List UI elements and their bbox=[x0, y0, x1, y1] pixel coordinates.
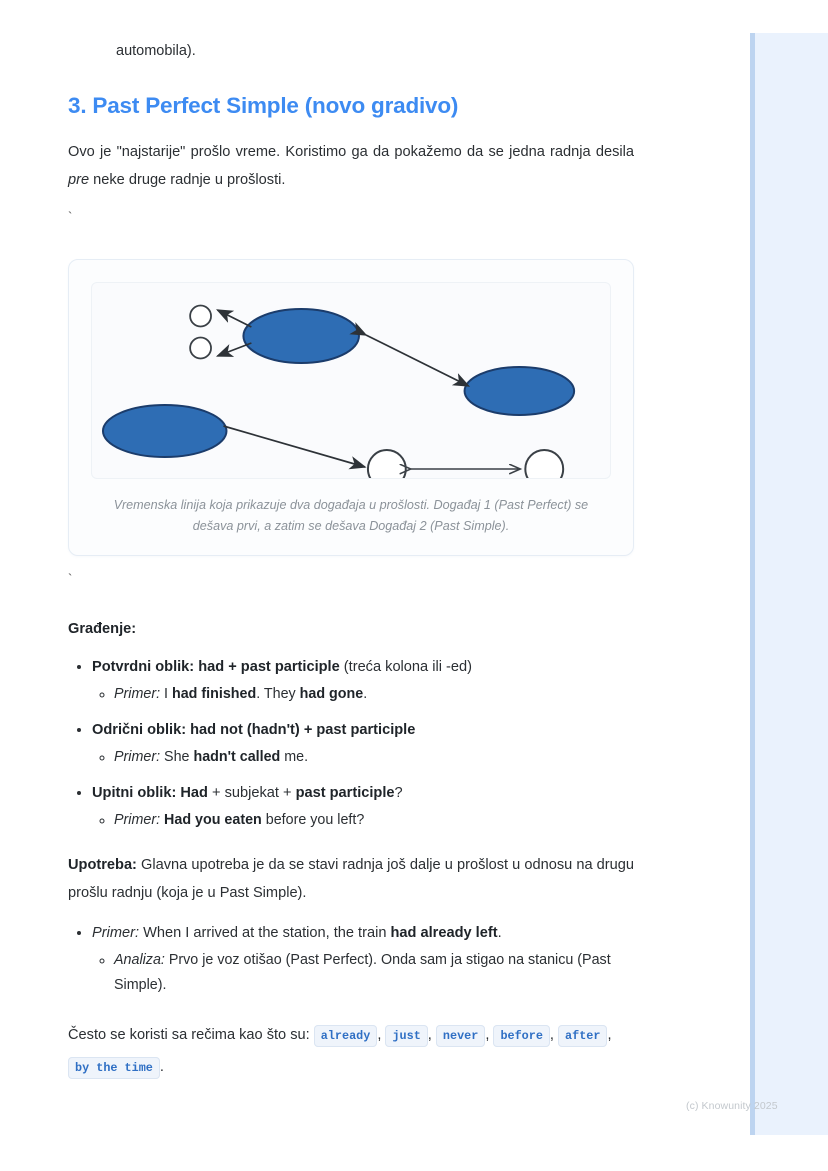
keywords-paragraph: Često se koristi sa rečima kao što su: a… bbox=[68, 1020, 634, 1084]
node-circle-outline-1 bbox=[190, 306, 211, 327]
figure-caption: Vremenska linija koja prikazuje dva doga… bbox=[97, 495, 605, 537]
watermark: (c) Knowunity 2025 bbox=[686, 1100, 778, 1112]
node-ellipse-event-a bbox=[243, 309, 359, 363]
usage-heading: Upotreba: bbox=[68, 857, 137, 873]
list-item: Primer: Had you eaten before you left? bbox=[114, 808, 634, 833]
list-item: Analiza: Prvo je voz otišao (Past Perfec… bbox=[114, 948, 634, 998]
example-sublist: Primer: I had finished. They had gone. bbox=[92, 682, 634, 707]
example-sublist: Primer: Had you eaten before you left? bbox=[92, 808, 634, 833]
keyword-chip-by-the-time[interactable]: by the time bbox=[68, 1057, 160, 1079]
sep: , bbox=[550, 1027, 554, 1043]
sep: , bbox=[485, 1027, 489, 1043]
example-label: Primer: bbox=[114, 686, 160, 702]
intro-text-part1: Ovo je "najstarije" prošlo vreme. Korist… bbox=[68, 144, 634, 160]
usage-example-bold: had already left bbox=[391, 925, 498, 941]
example-label: Primer: bbox=[114, 749, 160, 765]
analysis-text: Prvo je voz otišao (Past Perfect). Onda … bbox=[114, 952, 611, 993]
intro-text-part2: neke druge radnje u prošlosti. bbox=[89, 172, 285, 188]
construction-heading: Građenje: bbox=[68, 618, 634, 640]
node-circle-outline-2 bbox=[190, 338, 211, 359]
list-item: Upitni oblik: Had + subjekat + past part… bbox=[92, 780, 634, 833]
example-label: Primer: bbox=[114, 812, 160, 828]
example-pre: She bbox=[160, 749, 193, 765]
form-question-label-b: past participle bbox=[296, 785, 395, 801]
example-bold-1: Had you eaten bbox=[160, 812, 262, 828]
node-ellipse-event-c bbox=[103, 405, 227, 457]
list-item: Odrični oblik: had not (hadn't) + past p… bbox=[92, 717, 634, 770]
list-item: Primer: When I arrived at the station, t… bbox=[92, 921, 634, 998]
analysis-sublist: Analiza: Prvo je voz otišao (Past Perfec… bbox=[92, 948, 634, 998]
arrow-a-to-b bbox=[366, 335, 469, 386]
node-ellipse-event-b bbox=[465, 367, 575, 415]
section-intro-paragraph: Ovo je "najstarije" prošlo vreme. Korist… bbox=[68, 138, 634, 194]
usage-example-post: . bbox=[498, 925, 502, 941]
example-pre: I bbox=[160, 686, 172, 702]
example-sublist: Primer: She hadn't called me. bbox=[92, 745, 634, 770]
usage-text: Glavna upotreba je da se stavi radnja jo… bbox=[68, 857, 634, 901]
continuation-line: automobila). bbox=[68, 0, 634, 62]
node-circle-outline-4 bbox=[525, 450, 563, 478]
stray-backtick-1: ` bbox=[68, 208, 634, 226]
sep: , bbox=[428, 1027, 432, 1043]
analysis-label: Analiza: bbox=[114, 952, 165, 968]
document-content: automobila). 3. Past Perfect Simple (nov… bbox=[68, 0, 634, 1084]
scrollbar-rail[interactable] bbox=[750, 33, 755, 1135]
list-item: Primer: She hadn't called me. bbox=[114, 745, 634, 770]
keyword-chip-after[interactable]: after bbox=[558, 1025, 607, 1047]
sep: , bbox=[607, 1027, 611, 1043]
arrow-a-to-circle2 bbox=[218, 343, 252, 356]
example-post: . bbox=[363, 686, 367, 702]
keyword-chip-never[interactable]: never bbox=[436, 1025, 485, 1047]
example-mid: me. bbox=[280, 749, 308, 765]
example-mid: . They bbox=[256, 686, 299, 702]
construction-list: Potvrdni oblik: had + past participle (t… bbox=[68, 654, 634, 833]
example-bold-1: had finished bbox=[172, 686, 256, 702]
list-item: Potvrdni oblik: had + past participle (t… bbox=[92, 654, 634, 707]
example-bold-2: had gone bbox=[300, 686, 364, 702]
form-negative-label: Odrični oblik: had not (hadn't) + past p… bbox=[92, 722, 415, 738]
stray-backtick-2: ` bbox=[68, 570, 634, 588]
timeline-diagram bbox=[92, 283, 610, 478]
keywords-intro: Često se koristi sa rečima kao što su: bbox=[68, 1027, 310, 1043]
list-item: Primer: I had finished. They had gone. bbox=[114, 682, 634, 707]
intro-emphasis: pre bbox=[68, 172, 89, 188]
form-affirmative-label: Potvrdni oblik: had + past participle bbox=[92, 659, 340, 675]
form-question-tail: ? bbox=[395, 785, 403, 801]
page-title: 3. Past Perfect Simple (novo gradivo) bbox=[68, 92, 634, 120]
keyword-chip-just[interactable]: just bbox=[385, 1025, 427, 1047]
usage-example-pre: When I arrived at the station, the train bbox=[139, 925, 390, 941]
form-question-plain: + subjekat + bbox=[208, 785, 296, 801]
figure-card: Vremenska linija koja prikazuje dva doga… bbox=[68, 259, 634, 556]
usage-paragraph: Upotreba: Glavna upotreba je da se stavi… bbox=[68, 851, 634, 907]
usage-example-label: Primer: bbox=[92, 925, 139, 941]
node-circle-outline-3 bbox=[368, 450, 406, 478]
terminator: . bbox=[160, 1059, 164, 1075]
figure-canvas bbox=[91, 282, 611, 479]
arrow-a-to-circle1 bbox=[218, 310, 252, 327]
keyword-chip-already[interactable]: already bbox=[314, 1025, 378, 1047]
example-mid: before you left? bbox=[262, 812, 365, 828]
usage-example-list: Primer: When I arrived at the station, t… bbox=[68, 921, 634, 998]
arrow-c-to-circle3 bbox=[223, 426, 364, 467]
form-question-label-a: Upitni oblik: Had bbox=[92, 785, 208, 801]
example-bold-1: hadn't called bbox=[193, 749, 280, 765]
keyword-chip-before[interactable]: before bbox=[493, 1025, 549, 1047]
right-edge-band bbox=[750, 33, 828, 1135]
sep: , bbox=[377, 1027, 381, 1043]
form-affirmative-note: (treća kolona ili -ed) bbox=[340, 659, 472, 675]
